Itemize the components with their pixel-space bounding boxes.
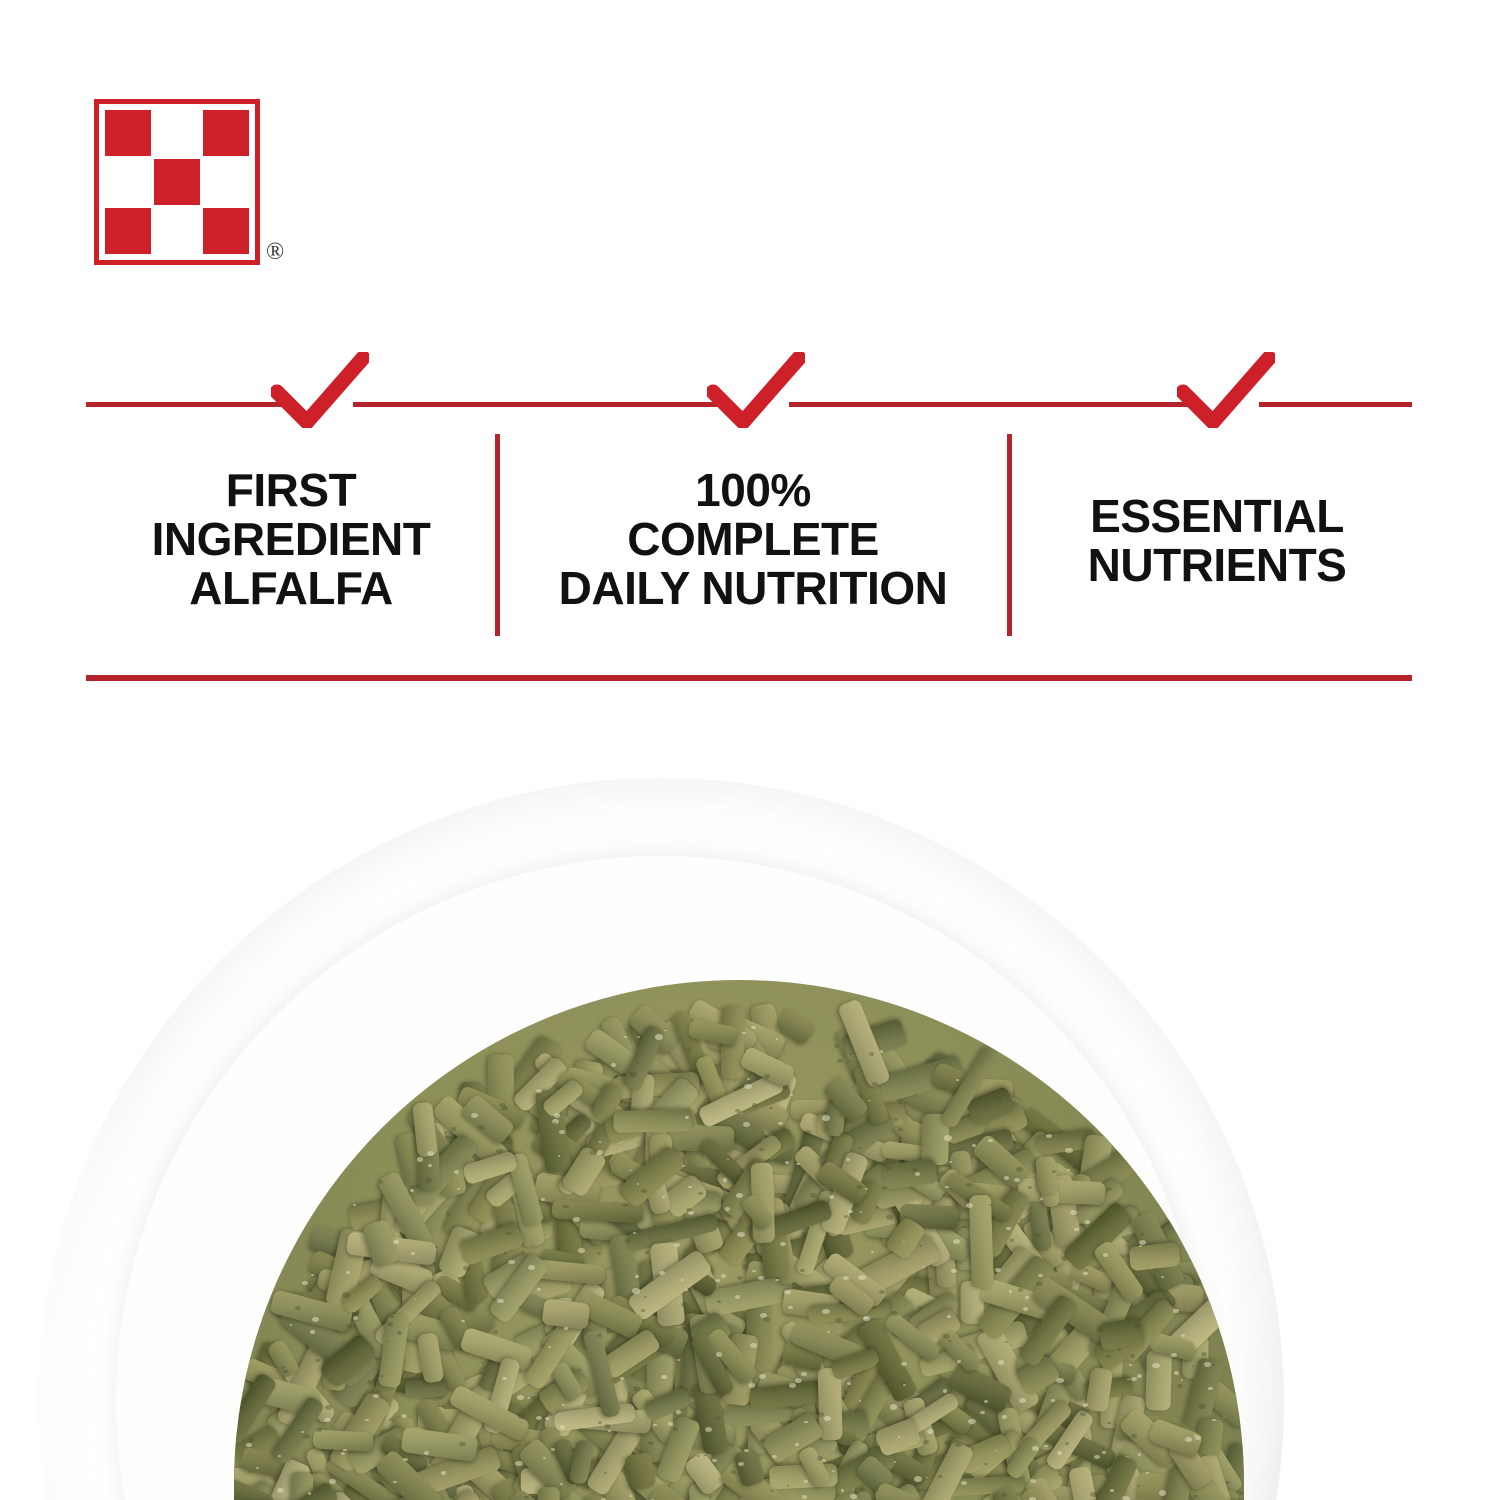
pellet-speckle — [554, 1113, 560, 1117]
pellet-speckle — [1002, 1415, 1007, 1419]
pellet-speckle — [518, 1413, 526, 1418]
pellet-speckle — [886, 1166, 891, 1169]
pellet-speckle — [788, 1306, 793, 1309]
pellet-speckle — [608, 1430, 611, 1432]
pellet-speckle — [353, 1204, 356, 1206]
pellet-speckle — [859, 1400, 861, 1401]
pellet-speckle — [536, 1089, 542, 1093]
pellet-speckle — [705, 1427, 712, 1432]
feature-line: NUTRIENTS — [1020, 541, 1414, 590]
pellet-speckle — [256, 1467, 258, 1469]
pellet-speckle — [859, 1487, 865, 1491]
pellet-cluster — [234, 980, 1244, 1500]
pellet-speckle — [810, 1193, 817, 1198]
product-photo — [0, 700, 1500, 1500]
pellet-speckle — [776, 1038, 778, 1040]
pellet-speckle — [676, 1410, 681, 1413]
pellet-speckle — [1135, 1323, 1138, 1325]
pellet-speckle — [677, 1359, 680, 1361]
pellet-speckle — [822, 1115, 830, 1121]
pellet-speckle — [517, 1395, 524, 1400]
pellet-speckle — [662, 1196, 665, 1198]
pellet-speckle — [901, 1362, 907, 1366]
pellet-speckle — [355, 1228, 357, 1230]
pellet-speckle — [1177, 1384, 1184, 1389]
pellet-speckle — [872, 1082, 877, 1086]
pellet-speckle — [1173, 1309, 1178, 1313]
alfalfa-pellet — [542, 1298, 590, 1330]
pellet-speckle — [277, 1488, 284, 1493]
pellet-speckle — [681, 1302, 688, 1307]
pellet-speckle — [850, 1377, 854, 1380]
pellet-speckle — [1046, 1134, 1052, 1138]
pellet-speckle — [926, 1059, 930, 1062]
pellet-speckle — [890, 1404, 897, 1409]
pellet-speckle — [393, 1240, 398, 1244]
pellet-speckle — [849, 1053, 851, 1055]
pellet-speckle — [759, 1148, 764, 1151]
pellet-speckle — [1129, 1364, 1132, 1366]
pellet-speckle — [560, 1483, 563, 1485]
pellet-speckle — [688, 1211, 694, 1215]
pellet-speckle — [508, 1260, 515, 1265]
feature-item-complete-daily-nutrition: 100% COMPLETE DAILY NUTRITION — [506, 466, 1000, 613]
pellet-speckle — [834, 1044, 839, 1048]
pellet-speckle — [847, 1382, 851, 1385]
pellet-speckle — [564, 1327, 567, 1329]
pellet-speckle — [573, 1217, 580, 1222]
pellet-speckle — [738, 1462, 744, 1466]
pellet-speckle — [578, 1248, 585, 1253]
pellet-speckle — [988, 1139, 992, 1142]
pellet-speckle — [1061, 1256, 1068, 1261]
pellet-speckle — [860, 1211, 863, 1213]
pellet-speckle — [1193, 1495, 1198, 1498]
pellet-speckle — [698, 1192, 702, 1195]
pellet-speckle — [1085, 1220, 1090, 1223]
pellet-speckle — [715, 1279, 719, 1282]
pellet-speckle — [633, 1232, 636, 1234]
pellet-speckle — [995, 1268, 1001, 1272]
alfalfa-pellet — [313, 1429, 374, 1451]
pellet-speckle — [664, 1030, 666, 1032]
pellet-speckle — [1004, 1176, 1009, 1180]
pellet-speckle — [645, 1251, 649, 1254]
pellet-speckle — [859, 1147, 862, 1149]
pellet-speckle — [1185, 1437, 1192, 1442]
pellet-speckle — [802, 1232, 808, 1236]
pellet-speckle — [397, 1331, 403, 1335]
pellet-speckle — [1106, 1355, 1111, 1358]
pellet-speckle — [496, 1149, 503, 1154]
pellet-speckle — [441, 1471, 446, 1474]
pellet-speckle — [817, 1456, 823, 1460]
pellet-speckle — [674, 1243, 679, 1247]
pellet-speckle — [827, 1331, 830, 1333]
pellet-speckle — [560, 1425, 565, 1429]
alfalfa-pellet — [1034, 1156, 1058, 1195]
pellet-speckle — [325, 1405, 332, 1410]
pellet-speckle — [723, 1178, 728, 1181]
pellet-speckle — [749, 1383, 755, 1387]
pellet-speckle — [1107, 1422, 1110, 1424]
pellet-speckle — [984, 1400, 988, 1403]
pellet-speckle — [1174, 1371, 1179, 1375]
pellet-speckle — [659, 1271, 665, 1275]
pellet-speckle — [688, 1186, 692, 1189]
pellet-speckle — [637, 1062, 639, 1064]
pellet-speckle — [804, 1480, 808, 1483]
pellet-speckle — [844, 1215, 848, 1218]
pellet-speckle — [943, 1389, 948, 1392]
pellet-speckle — [841, 1489, 844, 1491]
column-divider — [495, 434, 500, 636]
pellet-speckle — [918, 1306, 922, 1309]
pellet-speckle — [868, 1100, 870, 1102]
pellet-speckle — [1009, 1290, 1013, 1292]
pellet-speckle — [1040, 1198, 1042, 1200]
checkmark-icon — [1177, 352, 1275, 428]
pellet-speckle — [1006, 1227, 1010, 1230]
alfalfa-pellet — [537, 1487, 560, 1500]
feature-line: COMPLETE — [506, 515, 1000, 564]
pellet-speckle — [771, 1490, 774, 1492]
pellet-speckle — [365, 1419, 368, 1421]
pellet-speckle — [353, 1316, 359, 1320]
pellet-speckle — [1171, 1353, 1177, 1357]
pellet-speckle — [898, 1436, 901, 1438]
pellet-speckle — [1065, 1148, 1072, 1153]
pellet-speckle — [641, 1189, 647, 1193]
feature-line: 100% — [506, 466, 1000, 515]
pellet-speckle — [784, 1290, 790, 1295]
pellet-speckle — [837, 1059, 842, 1063]
pellet-speckle — [785, 1161, 789, 1164]
pellet-speckle — [884, 1382, 889, 1386]
pellet-speckle — [620, 1377, 624, 1380]
pellet-speckle — [736, 1193, 743, 1198]
pellet-speckle — [894, 1461, 896, 1463]
pellet-speckle — [471, 1113, 478, 1118]
feature-item-first-ingredient-alfalfa: FIRST INGREDIENT ALFALFA — [96, 466, 486, 613]
pellet-speckle — [632, 1288, 640, 1293]
feature-line: DAILY NUTRITION — [506, 564, 1000, 613]
pellet-speckle — [435, 1246, 438, 1248]
pellet-speckle — [773, 1390, 776, 1392]
pellet-speckle — [1030, 1479, 1035, 1483]
pellet-speckle — [1131, 1377, 1137, 1381]
pellet-speckle — [824, 1416, 830, 1420]
pellet-speckle — [1138, 1453, 1141, 1455]
pellet-speckle — [389, 1315, 394, 1318]
pellet-speckle — [1001, 1493, 1006, 1497]
pellet-speckle — [1212, 1364, 1215, 1366]
pellet-speckle — [281, 1366, 285, 1369]
pellet-speckle — [731, 1470, 736, 1474]
pellet-speckle — [863, 1316, 869, 1320]
pellet-speckle — [725, 1207, 730, 1211]
pellet-speckle — [248, 1438, 254, 1442]
pellet-speckle — [278, 1455, 281, 1457]
pellet-speckle — [346, 1271, 350, 1273]
pellet-speckle — [957, 1360, 961, 1363]
pellet-speckle — [914, 1476, 922, 1482]
food-bowl — [38, 778, 1284, 1500]
pellet-speckle — [998, 1360, 1005, 1365]
pellet-speckle — [778, 1122, 782, 1125]
pellet-speckle — [661, 1375, 666, 1379]
pellet-speckle — [668, 1422, 673, 1426]
pellet-speckle — [758, 1276, 764, 1280]
pellet-speckle — [1194, 1435, 1196, 1437]
pellet-speckle — [744, 1449, 749, 1452]
pellet-speckle — [966, 1203, 973, 1208]
pellet-speckle — [858, 1275, 865, 1280]
checkmark-icon — [707, 352, 805, 428]
pellet-speckle — [493, 1330, 498, 1334]
pellet-speckle — [1044, 1445, 1048, 1447]
top-rule-segment — [86, 402, 287, 407]
pellet-speckle — [997, 1097, 1002, 1101]
pellet-speckle — [785, 1212, 792, 1217]
pellet-speckle — [451, 1127, 456, 1130]
pellet-speckle — [938, 1475, 942, 1478]
pellet-speckle — [850, 1494, 858, 1499]
pellet-speckle — [563, 1205, 568, 1209]
pellet-speckle — [457, 1188, 460, 1190]
pellet-speckle — [317, 1428, 322, 1432]
pellet-speckle — [463, 1266, 470, 1271]
pellet-speckle — [303, 1434, 310, 1439]
pellet-speckle — [576, 1124, 578, 1126]
pellet-speckle — [984, 1463, 988, 1466]
pellet-speckle — [943, 1334, 950, 1339]
pellet-speckle — [790, 1094, 793, 1096]
pellet-speckle — [531, 1396, 536, 1399]
pellet-speckle — [1083, 1272, 1088, 1275]
pellet-speckle — [721, 1274, 726, 1278]
pellet-speckle — [903, 1384, 906, 1386]
pellet-speckle — [599, 1141, 602, 1143]
pellet-speckle — [1097, 1327, 1104, 1332]
pellet-speckle — [635, 1275, 639, 1278]
pellet-speckle — [682, 1165, 684, 1167]
pellet-speckle — [1090, 1492, 1097, 1497]
pellet-speckle — [343, 1449, 346, 1451]
pellet-speckle — [1192, 1365, 1194, 1367]
pellet-speckle — [835, 1318, 842, 1323]
pellet-speckle — [794, 1416, 797, 1418]
pellet-speckle — [801, 1372, 806, 1376]
pellet-speckle — [760, 1439, 766, 1443]
pellet-speckle — [716, 1352, 722, 1356]
pellet-speckle — [376, 1390, 380, 1393]
feature-item-essential-nutrients: ESSENTIAL NUTRIENTS — [1020, 492, 1414, 590]
pellet-speckle — [735, 1109, 741, 1113]
pellet-speckle — [1122, 1496, 1130, 1500]
pellet-speckle — [387, 1322, 393, 1326]
pellet-speckle — [742, 1032, 745, 1034]
pellet-speckle — [871, 1251, 874, 1253]
pellet-speckle — [750, 1343, 757, 1348]
pellet-speckle — [802, 1495, 807, 1499]
pellet-speckle — [269, 1409, 272, 1411]
pellet-speckle — [1225, 1481, 1230, 1485]
pellet-speckle — [528, 1265, 535, 1270]
pellet-speckle — [1127, 1379, 1129, 1381]
pellet-speckle — [1032, 1446, 1039, 1451]
pellet-speckle — [625, 1239, 631, 1243]
pellet-speckle — [751, 1026, 755, 1029]
pellet-speckle — [597, 1252, 601, 1255]
pellet-speckle — [1204, 1362, 1211, 1367]
pellet-speckle — [310, 1330, 315, 1333]
pellet-speckle — [1137, 1374, 1142, 1378]
pellet-speckle — [597, 1150, 604, 1155]
pellet-speckle — [329, 1479, 336, 1484]
pellet-speckle — [1025, 1296, 1029, 1299]
bottom-rule — [86, 675, 1412, 681]
pellet-speckle — [1023, 1307, 1028, 1311]
pellet-speckle — [944, 1441, 950, 1445]
pellet-speckle — [481, 1362, 484, 1364]
pellet-speckle — [673, 1427, 678, 1430]
top-rule-segment — [353, 402, 721, 407]
pellet-speckle — [410, 1189, 414, 1192]
pellet-speckle — [1010, 1239, 1013, 1241]
pellet-speckle — [817, 1412, 824, 1417]
pellet-speckle — [1208, 1387, 1212, 1390]
pellet-speckle — [789, 1383, 796, 1388]
pellet-speckle — [1072, 1165, 1077, 1168]
pellet-speckle — [1074, 1228, 1079, 1232]
pellet-speckle — [805, 1130, 811, 1134]
pellet-speckle — [956, 1079, 959, 1081]
feature-line: INGREDIENT — [96, 515, 486, 564]
pellet-speckle — [629, 1071, 637, 1077]
feature-line: ESSENTIAL — [1020, 492, 1414, 541]
bowl-inner-rim — [116, 856, 1206, 1500]
pellet-speckle — [951, 1269, 957, 1273]
pellet-speckle — [342, 1292, 349, 1297]
alfalfa-pellet — [1146, 1350, 1172, 1410]
pellet-speckle — [611, 1063, 616, 1066]
alfalfa-pellet — [614, 1110, 692, 1134]
pellet-speckle — [848, 1210, 853, 1213]
pellet-speckle — [1131, 1434, 1137, 1438]
pellet-speckle — [865, 1188, 868, 1190]
pellet-speckle — [302, 1281, 307, 1285]
pellet-speckle — [1028, 1186, 1032, 1189]
feature-band: FIRST INGREDIENT ALFALFA 100% COMPLETE D… — [0, 0, 1500, 700]
pellet-speckle — [804, 1421, 807, 1423]
top-rule-segment — [789, 402, 1191, 407]
alfalfa-pellet-mound — [234, 980, 1244, 1500]
pellet-speckle — [411, 1252, 415, 1255]
pellet-speckle — [1103, 1253, 1108, 1257]
pellet-speckle — [373, 1394, 379, 1398]
pellet-speckle — [962, 1226, 965, 1228]
feature-line: ALFALFA — [96, 564, 486, 613]
pellet-speckle — [497, 1299, 504, 1304]
pellet-speckle — [637, 1183, 640, 1185]
pellet-speckle — [380, 1375, 383, 1377]
pellet-speckle — [743, 1122, 751, 1127]
alfalfa-pellet — [970, 1194, 994, 1288]
feature-line: FIRST — [96, 466, 486, 515]
pellet-speckle — [879, 1290, 885, 1294]
pellet-speckle — [843, 1332, 845, 1334]
column-divider — [1007, 434, 1012, 636]
top-rule-segment — [1259, 402, 1412, 407]
pellet-speckle — [1130, 1354, 1135, 1358]
pellet-speckle — [315, 1359, 319, 1362]
pellet-speckle — [1018, 1288, 1023, 1292]
pellet-speckle — [367, 1380, 373, 1384]
pellet-speckle — [869, 1052, 874, 1055]
pellet-speckle — [1159, 1490, 1166, 1495]
product-feature-panel: ® FIRST INGREDIENT ALFALFA 100% COMPLETE… — [0, 0, 1500, 1500]
pellet-speckle — [1181, 1379, 1183, 1381]
pellet-speckle — [944, 1135, 952, 1140]
pellet-speckle — [379, 1180, 384, 1183]
pellet-speckle — [744, 1084, 751, 1089]
pellet-speckle — [308, 1492, 312, 1495]
pellet-speckle — [922, 1266, 925, 1268]
checkmark-icon — [271, 352, 369, 428]
pellet-speckle — [919, 1245, 922, 1247]
pellet-speckle — [590, 1150, 598, 1155]
pellet-speckle — [311, 1274, 314, 1276]
pellet-speckle — [1181, 1334, 1185, 1337]
pellet-speckle — [1056, 1378, 1064, 1383]
pellet-speckle — [622, 1203, 628, 1207]
pellet-speckle — [1005, 1341, 1007, 1342]
pellet-speckle — [1051, 1399, 1055, 1401]
pellet-speckle — [1239, 1491, 1244, 1495]
pellet-speckle — [1020, 1218, 1023, 1220]
pellet-speckle — [822, 1309, 830, 1314]
pellet-speckle — [324, 1418, 331, 1423]
pellet-speckle — [840, 1132, 846, 1136]
pellet-speckle — [947, 1315, 951, 1318]
pellet-speckle — [403, 1458, 407, 1461]
pellet-speckle — [948, 1340, 952, 1342]
pellet-speckle — [969, 1426, 971, 1428]
pellet-speckle — [891, 1311, 897, 1315]
pellet-speckle — [655, 1034, 663, 1040]
pellet-speckle — [548, 1346, 551, 1348]
pellet-speckle — [424, 1451, 429, 1454]
pellet-speckle — [1067, 1169, 1070, 1171]
pellet-speckle — [641, 1309, 644, 1311]
pellet-speckle — [955, 1442, 962, 1447]
pellet-speckle — [417, 1157, 423, 1162]
pellet-speckle — [737, 1276, 743, 1280]
pellet-speckle — [560, 1487, 562, 1489]
